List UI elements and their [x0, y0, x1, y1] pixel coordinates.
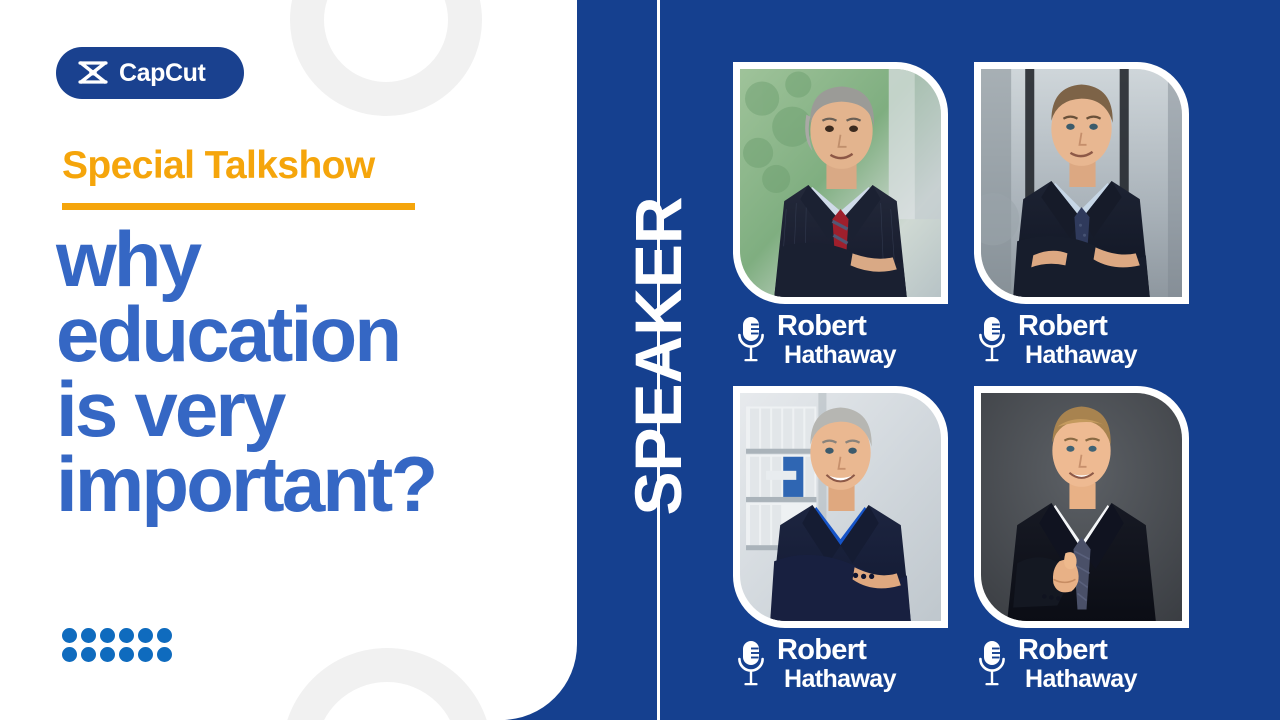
capcut-wordmark: CapCut — [119, 61, 205, 86]
speaker-photo — [981, 393, 1182, 621]
kicker-text: Special Talkshow — [62, 146, 375, 185]
decorative-dot-grid — [62, 628, 172, 662]
dot — [100, 647, 115, 662]
speaker-card-grid: Robert Hathaway — [733, 62, 1213, 682]
speaker-last-name: Hathaway — [1025, 666, 1137, 692]
speaker-photo — [981, 69, 1182, 297]
dot — [138, 628, 153, 643]
speaker-card[interactable]: Robert Hathaway — [733, 62, 948, 310]
dot — [157, 647, 172, 662]
decorative-ring-icon — [282, 648, 492, 720]
dot — [119, 628, 134, 643]
speaker-card[interactable]: Robert Hathaway — [974, 386, 1189, 634]
poster-canvas: CapCut Special Talkshow why education is… — [0, 0, 1280, 720]
speaker-first-name: Robert — [777, 636, 896, 666]
speaker-photo — [740, 393, 941, 621]
speaker-photo-frame — [733, 386, 948, 628]
decorative-ring-icon — [290, 0, 482, 116]
speaker-first-name: Robert — [1018, 636, 1137, 666]
microphone-icon — [736, 639, 766, 687]
speaker-last-name: Hathaway — [784, 342, 896, 368]
capcut-scissor-icon — [78, 61, 108, 85]
speaker-photo-frame — [733, 62, 948, 304]
kicker-underline — [62, 203, 415, 210]
speaker-photo-frame — [974, 62, 1189, 304]
speaker-last-name: Hathaway — [1025, 342, 1137, 368]
speaker-card[interactable]: Robert Hathaway — [733, 386, 948, 634]
dot — [62, 647, 77, 662]
microphone-icon — [977, 315, 1007, 363]
dot — [119, 647, 134, 662]
headline-line: important? — [56, 447, 556, 522]
page-title: why education is very important? — [56, 222, 556, 522]
speaker-name-row: Robert Hathaway — [736, 636, 896, 692]
speaker-name-row: Robert Hathaway — [977, 312, 1137, 368]
dot — [138, 647, 153, 662]
headline-line: education — [56, 297, 556, 372]
speaker-photo — [740, 69, 941, 297]
speaker-card[interactable]: Robert Hathaway — [974, 62, 1189, 310]
microphone-icon — [977, 639, 1007, 687]
speaker-name-row: Robert Hathaway — [736, 312, 896, 368]
speaker-section-label: SPEAKER — [625, 196, 691, 515]
speaker-name-row: Robert Hathaway — [977, 636, 1137, 692]
speaker-first-name: Robert — [777, 312, 896, 342]
speaker-first-name: Robert — [1018, 312, 1137, 342]
dot — [81, 647, 96, 662]
dot — [100, 628, 115, 643]
dot — [62, 628, 77, 643]
dot — [81, 628, 96, 643]
headline-line: why — [56, 222, 556, 297]
speaker-last-name: Hathaway — [784, 666, 896, 692]
dot — [157, 628, 172, 643]
capcut-logo-badge[interactable]: CapCut — [56, 47, 244, 99]
microphone-icon — [736, 315, 766, 363]
speaker-photo-frame — [974, 386, 1189, 628]
headline-line: is very — [56, 372, 556, 447]
left-content-panel: CapCut Special Talkshow why education is… — [0, 0, 577, 720]
